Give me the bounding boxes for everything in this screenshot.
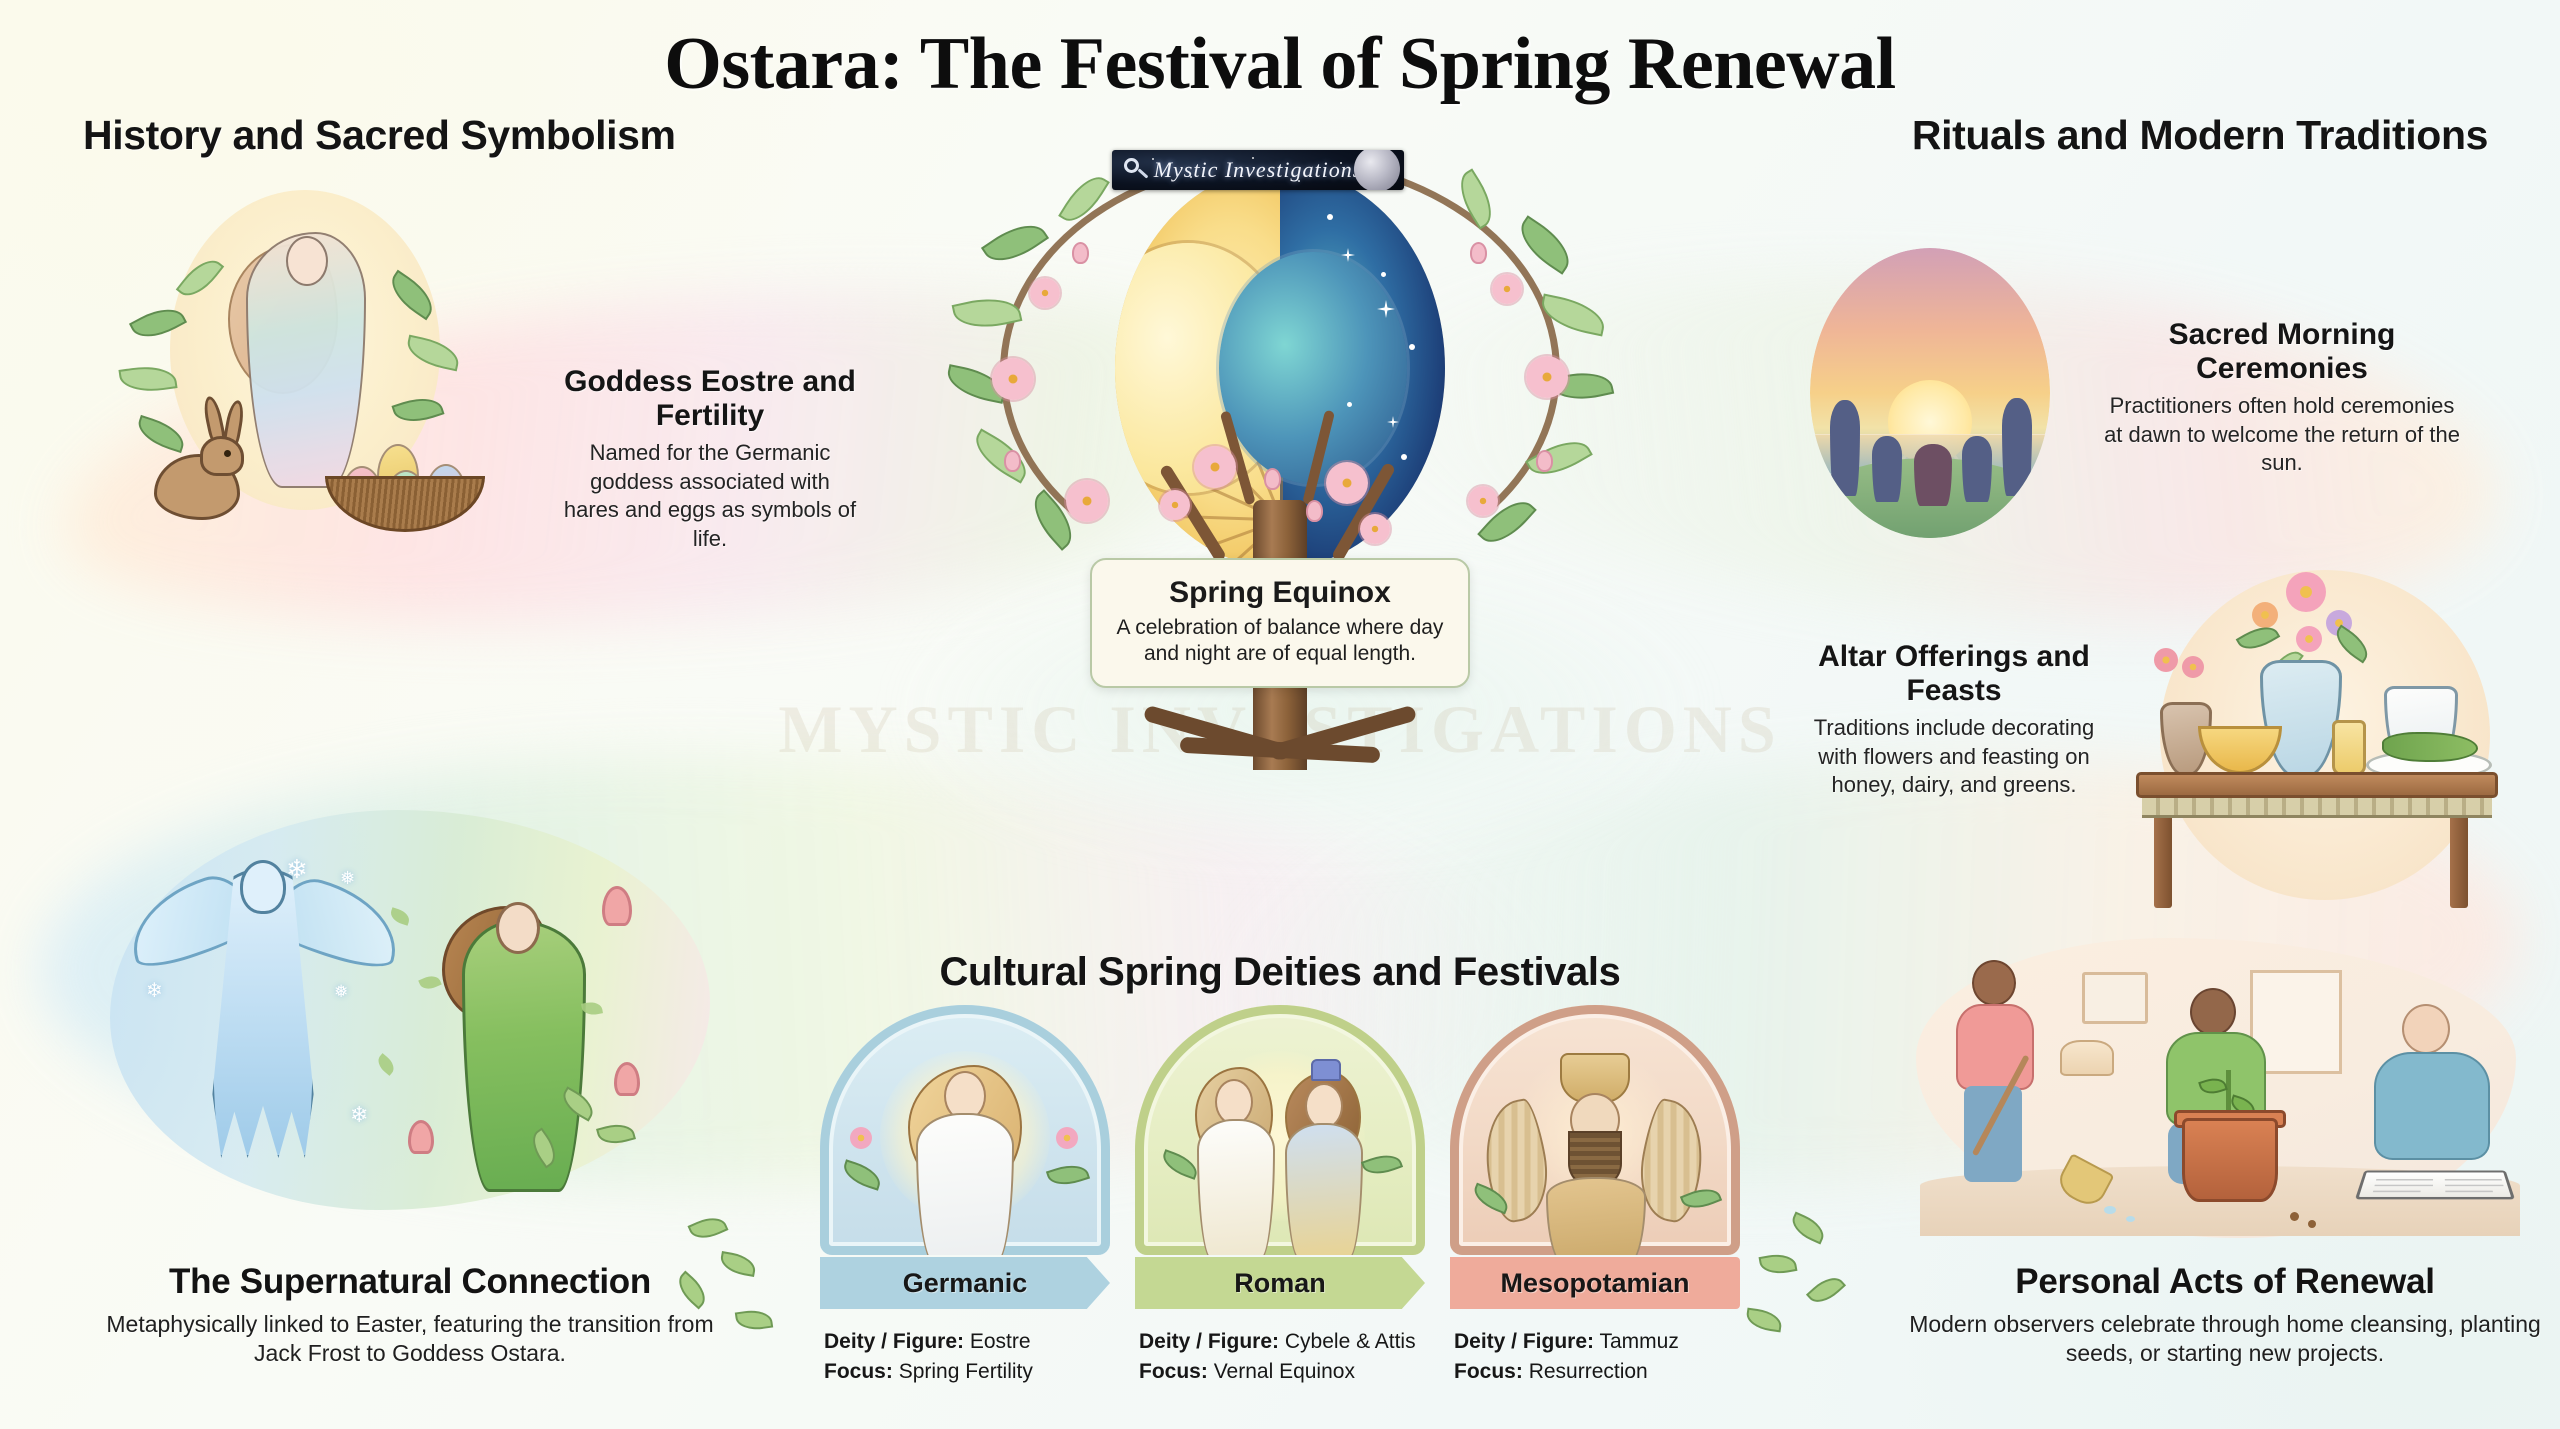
- leaf-icon: [735, 1308, 773, 1333]
- deity-value: Tammuz: [1600, 1330, 1679, 1353]
- magnifying-glass-icon: [1124, 158, 1139, 173]
- deity-meta-germanic: Deity / Figure: Eostre Focus: Spring Fer…: [824, 1327, 1106, 1387]
- blossom-icon: [1360, 514, 1390, 544]
- jack-frost-ostara-illustration: ❄ ❅ ❄ ❅ ❄: [90, 790, 730, 1240]
- blossom-icon: [1194, 446, 1236, 488]
- text-block-altar-offerings: Altar Offerings and Feasts Traditions in…: [1808, 640, 2100, 800]
- snowflake-icon: ❅: [334, 982, 348, 1002]
- spring-goddess-figure: [462, 920, 586, 1192]
- equinox-title: Spring Equinox: [1114, 576, 1446, 610]
- hare-icon: [154, 410, 250, 520]
- block-body: Named for the Germanic goddess associate…: [560, 439, 860, 553]
- deity-panel-roman[interactable]: Roman Deity / Figure: Cybele & Attis Foc…: [1135, 1005, 1425, 1255]
- infographic-poster: MYSTIC INVESTIGATIONS Ostara: The Festiv…: [0, 0, 2560, 1429]
- journal-icon: [2355, 1170, 2515, 1199]
- bud-icon: [1004, 450, 1021, 472]
- deity-label: Deity / Figure:: [824, 1330, 964, 1353]
- focus-value: Resurrection: [1529, 1360, 1648, 1383]
- oil-bottle-icon: [2332, 720, 2366, 776]
- snowflake-icon: ❄: [350, 1102, 368, 1128]
- snowflake-icon: ❅: [340, 868, 355, 889]
- block-body: Traditions include decorating with flowe…: [1808, 714, 2100, 800]
- leaf-icon: [1361, 1149, 1403, 1180]
- picture-frame-icon: [2082, 972, 2148, 1024]
- moon-icon: [1354, 150, 1400, 190]
- focus-label: Focus:: [824, 1360, 893, 1383]
- culture-banner-germanic: Germanic: [820, 1257, 1110, 1309]
- goddess-eostre-illustration: [110, 190, 510, 560]
- deity-meta-roman: Deity / Figure: Cybele & Attis Focus: Ve…: [1139, 1327, 1421, 1387]
- goddess-head: [286, 236, 328, 286]
- text-block-supernatural-connection: The Supernatural Connection Metaphysical…: [90, 1262, 730, 1369]
- equinox-description: A celebration of balance where day and n…: [1114, 615, 1446, 668]
- altar-table: [2136, 772, 2498, 798]
- flower-icon: [2286, 572, 2326, 612]
- flower-icon: [2296, 626, 2322, 652]
- standing-figure: [1830, 400, 1860, 496]
- egg-nest-icon: [325, 440, 485, 532]
- culture-label: Roman: [1234, 1268, 1326, 1299]
- personal-renewal-illustration: [1890, 928, 2560, 1258]
- figure-torso: [1956, 1004, 2034, 1090]
- leaf-icon: [1787, 1212, 1828, 1245]
- kneeling-figure: [1872, 436, 1902, 502]
- brand-label: Mystic Investigations: [1154, 157, 1363, 183]
- blossom-icon: [1066, 480, 1108, 522]
- tulip-icon: [614, 1062, 640, 1096]
- figure-head: [1972, 960, 2016, 1006]
- leaf-icon: [1159, 1149, 1201, 1180]
- leaf-icon: [1745, 1308, 1783, 1333]
- leaf-icon: [1759, 1251, 1798, 1277]
- block-body: Modern observers celebrate through home …: [1890, 1310, 2560, 1369]
- standing-figure: [2002, 398, 2032, 496]
- table-trim: [2142, 798, 2492, 818]
- bud-icon: [1470, 242, 1487, 264]
- deity-artwork-roman: [1135, 1005, 1425, 1255]
- snowflake-icon: ❄: [286, 854, 308, 885]
- nest-bowl: [325, 476, 485, 532]
- focus-label: Focus:: [1454, 1360, 1523, 1383]
- leaf-icon: [1046, 1159, 1090, 1190]
- section-heading-rituals: Rituals and Modern Traditions: [1912, 112, 2488, 159]
- flower-icon: [2154, 648, 2178, 672]
- deity-value: Eostre: [970, 1330, 1031, 1353]
- figure-head: [2402, 1004, 2450, 1054]
- culture-banner-roman: Roman: [1135, 1257, 1425, 1309]
- text-block-personal-renewal: Personal Acts of Renewal Modern observer…: [1890, 1262, 2560, 1369]
- bud-icon: [1306, 500, 1323, 522]
- bud-icon: [1536, 450, 1553, 472]
- blossom-icon: [1030, 278, 1060, 308]
- block-body: Metaphysically linked to Easter, featuri…: [90, 1310, 730, 1369]
- block-heading: Sacred Morning Ceremonies: [2102, 318, 2462, 385]
- blossom-icon: [1468, 486, 1498, 516]
- greens-plate-icon: [2382, 732, 2478, 762]
- deity-artwork-mesopotamian: [1450, 1005, 1740, 1255]
- block-body: Practitioners often hold ceremonies at d…: [2102, 392, 2462, 478]
- block-heading: Goddess Eostre and Fertility: [560, 365, 860, 432]
- figure-legs: [1964, 1086, 2022, 1182]
- deity-value: Cybele & Attis: [1285, 1330, 1416, 1353]
- bud-icon: [1264, 468, 1281, 490]
- leaf-icon: [118, 362, 177, 396]
- focus-value: Spring Fertility: [899, 1360, 1033, 1383]
- figure-torso: [2374, 1052, 2490, 1160]
- culture-label: Mesopotamian: [1500, 1268, 1689, 1299]
- bud-icon: [1072, 242, 1089, 264]
- block-heading: Altar Offerings and Feasts: [1808, 640, 2100, 707]
- blossom-icon: [1160, 490, 1190, 520]
- kneeling-figure: [1962, 436, 1992, 502]
- block-heading: Personal Acts of Renewal: [1890, 1262, 2560, 1302]
- blossom-icon: [992, 358, 1034, 400]
- flower-icon: [1056, 1127, 1078, 1149]
- table-leg: [2450, 818, 2468, 908]
- figure-robe: [1546, 1177, 1646, 1255]
- deity-label: Deity / Figure:: [1139, 1330, 1279, 1353]
- tulip-icon: [408, 1120, 434, 1154]
- culture-banner-mesopotamian: Mesopotamian: [1450, 1257, 1740, 1309]
- flower-icon: [2252, 602, 2278, 628]
- section-heading-cultural: Cultural Spring Deities and Festivals: [940, 950, 1621, 995]
- culture-label: Germanic: [903, 1268, 1028, 1299]
- lamp-icon: [2060, 1040, 2114, 1076]
- leaf-icon: [840, 1159, 884, 1190]
- deity-panel-mesopotamian[interactable]: Mesopotamian Deity / Figure: Tammuz Focu…: [1450, 1005, 1740, 1255]
- section-heading-history: History and Sacred Symbolism: [83, 112, 676, 159]
- sunrise-ceremony-illustration: [1810, 248, 2050, 538]
- flower-icon: [2182, 656, 2204, 678]
- blossom-icon: [1326, 462, 1368, 504]
- ice-fairy-head: [240, 860, 286, 914]
- blossom-icon: [1492, 274, 1522, 304]
- phrygian-cap-icon: [1311, 1059, 1341, 1081]
- block-heading: The Supernatural Connection: [90, 1262, 730, 1302]
- deity-label: Deity / Figure:: [1454, 1330, 1594, 1353]
- figure-head: [2190, 988, 2236, 1036]
- meditating-figure: [1914, 444, 1952, 506]
- page-title: Ostara: The Festival of Spring Renewal: [0, 22, 2560, 107]
- flower-icon: [850, 1127, 872, 1149]
- hare-eye: [224, 450, 231, 457]
- altar-feast-illustration: [2120, 560, 2520, 960]
- table-leg: [2154, 818, 2172, 908]
- figure-robe: [916, 1113, 1014, 1255]
- deity-panel-row: Germanic Deity / Figure: Eostre Focus: S…: [820, 1005, 1740, 1409]
- text-block-sacred-morning: Sacred Morning Ceremonies Practitioners …: [2102, 318, 2462, 478]
- spring-equinox-card: Spring Equinox A celebration of balance …: [1090, 558, 1470, 688]
- deity-artwork-germanic: [820, 1005, 1110, 1255]
- text-block-goddess-eostre: Goddess Eostre and Fertility Named for t…: [560, 365, 860, 554]
- hare-head: [200, 436, 244, 476]
- snowflake-icon: ❄: [146, 978, 163, 1003]
- figure-robe: [1285, 1123, 1363, 1255]
- focus-value: Vernal Equinox: [1214, 1360, 1355, 1383]
- central-tree-emblem: Spring Equinox A celebration of balance …: [930, 150, 1630, 790]
- figure-robe: [1197, 1119, 1275, 1255]
- leaf-icon: [1806, 1271, 1846, 1310]
- deity-meta-mesopotamian: Deity / Figure: Tammuz Focus: Resurrecti…: [1454, 1327, 1736, 1387]
- flower-pot-icon: [2182, 1118, 2278, 1202]
- focus-label: Focus:: [1139, 1360, 1208, 1383]
- blossom-icon: [1526, 356, 1568, 398]
- spring-goddess-head: [496, 902, 540, 954]
- mystic-investigations-banner[interactable]: Mystic Investigations: [1112, 150, 1404, 190]
- deity-panel-germanic[interactable]: Germanic Deity / Figure: Eostre Focus: S…: [820, 1005, 1110, 1255]
